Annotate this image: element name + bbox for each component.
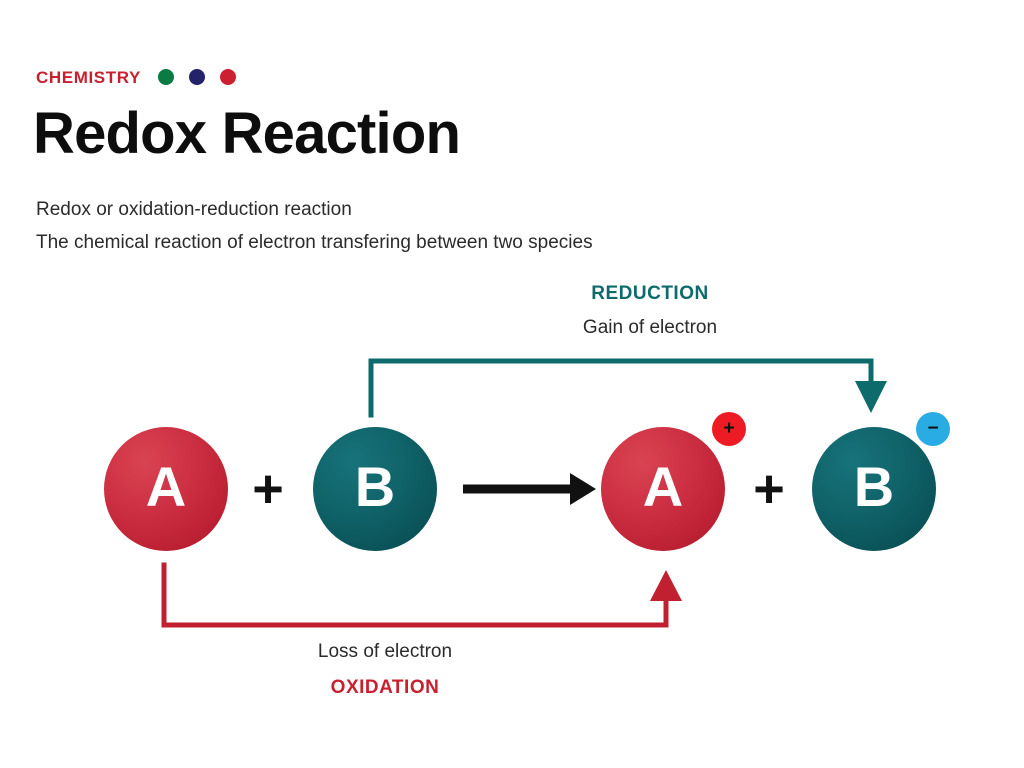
subtitle-line-1: Redox or oxidation-reduction reaction [36,199,352,222]
reactant-species-a-label: A [146,459,186,515]
negative-charge-label: − [927,419,938,438]
page-title: Redox Reaction [33,104,460,165]
oxidation-description: Loss of electron [255,641,515,664]
positive-charge-badge: + [712,412,746,446]
reaction-arrow-icon [463,473,596,505]
category-label: CHEMISTRY [36,69,141,86]
slide-canvas: CHEMISTRY Redox Reaction Redox or oxidat… [0,0,1024,768]
red-dot-icon [220,69,236,85]
reduction-bracket-icon [371,361,887,415]
navy-dot-icon [189,69,205,85]
product-species-a[interactable]: A [601,427,725,551]
reduction-description: Gain of electron [520,317,780,340]
positive-charge-label: + [723,419,734,438]
oxidation-heading: OXIDATION [255,677,515,700]
reactant-species-b-label: B [355,459,395,515]
green-dot-icon [158,69,174,85]
oxidation-bracket-icon [164,565,682,625]
product-plus-operator: + [744,462,794,516]
reactant-species-a[interactable]: A [104,427,228,551]
subtitle-line-2: The chemical reaction of electron transf… [36,232,593,255]
negative-charge-badge: − [916,412,950,446]
product-species-a-label: A [643,459,683,515]
reduction-heading: REDUCTION [520,283,780,306]
eyebrow-row: CHEMISTRY [36,66,236,88]
reactant-plus-operator: + [243,462,293,516]
product-species-b[interactable]: B [812,427,936,551]
product-species-b-label: B [854,459,894,515]
reactant-species-b[interactable]: B [313,427,437,551]
